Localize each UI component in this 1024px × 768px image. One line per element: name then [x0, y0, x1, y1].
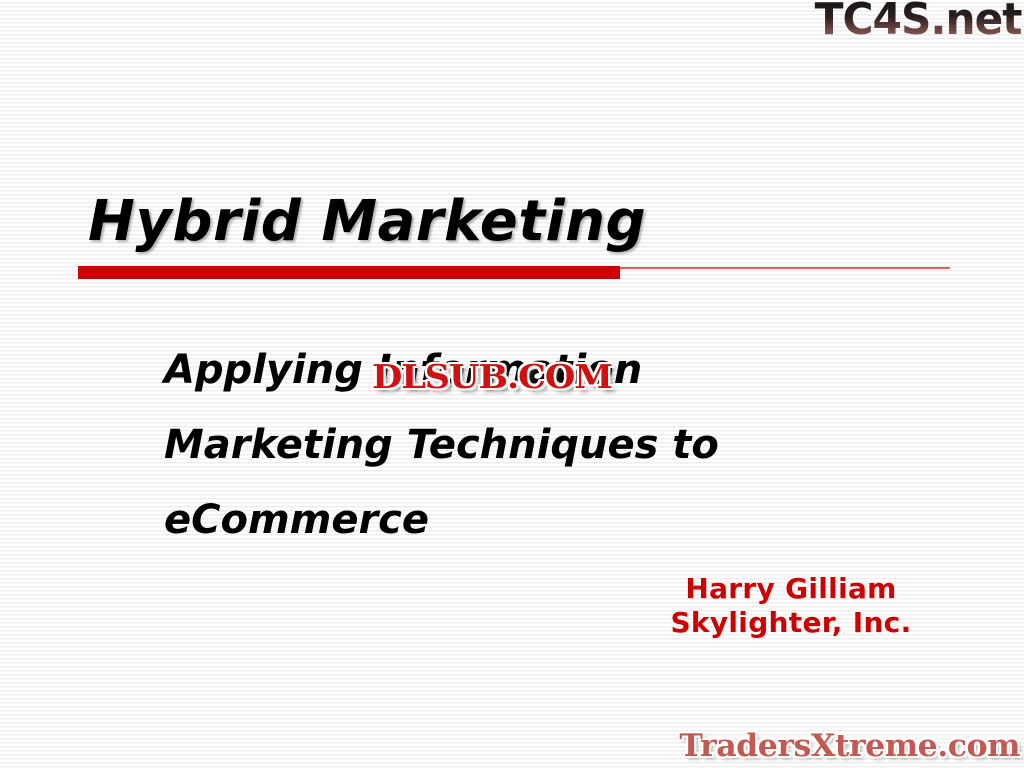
tc4s-site-logo-watermark: TC4S.net — [815, 0, 1022, 42]
subtitle-line-3: eCommerce — [164, 483, 924, 558]
dlsub-com-watermark: DLSUB.COM — [372, 360, 612, 393]
author-name: Harry Gilliam — [600, 572, 982, 606]
subtitle-line-2: Marketing Techniques to — [164, 408, 924, 483]
presentation-slide: TC4S.net Hybrid Marketing Applying Infor… — [0, 0, 1024, 768]
slide-title: Hybrid Marketing — [88, 192, 646, 252]
title-rule-thick-bar — [78, 266, 620, 279]
title-underline-rule — [78, 264, 950, 280]
author-company: Skylighter, Inc. — [600, 606, 982, 640]
author-block: Harry Gilliam Skylighter, Inc. — [600, 572, 982, 640]
tradersxtreme-com-watermark: TradersXtreme.com — [679, 731, 1020, 762]
